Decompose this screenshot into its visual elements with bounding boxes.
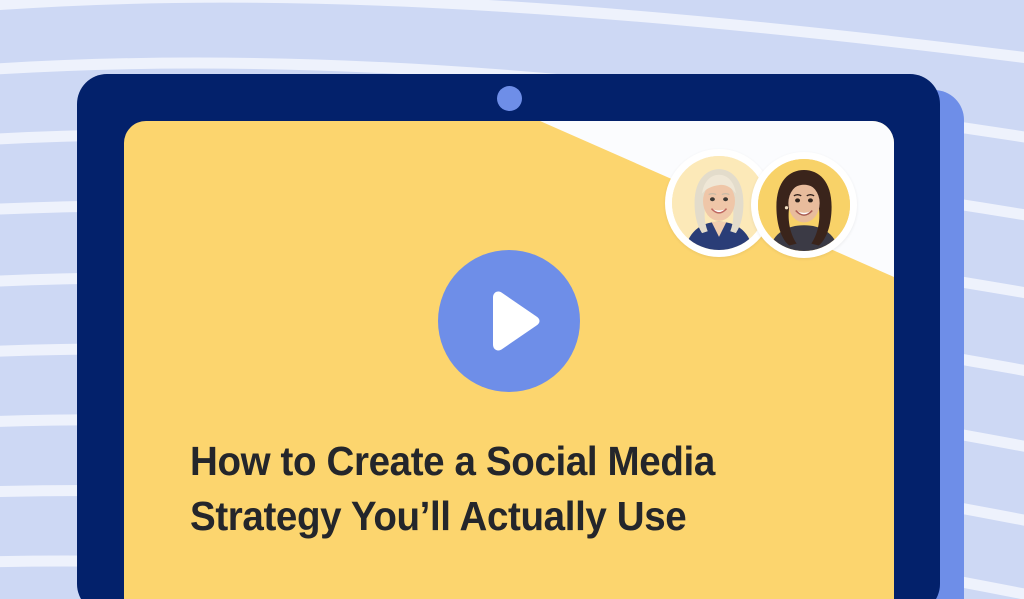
video-title-line-1: How to Create a Social Media bbox=[190, 434, 829, 489]
play-triangle-icon bbox=[486, 291, 542, 351]
video-thumbnail-stage: How to Create a Social Media Strategy Yo… bbox=[0, 0, 1024, 599]
avatar-image-2 bbox=[758, 159, 850, 251]
camera-dot-icon bbox=[497, 86, 522, 111]
video-title: How to Create a Social Media Strategy Yo… bbox=[190, 434, 829, 543]
play-button[interactable] bbox=[438, 250, 580, 392]
video-title-line-2: Strategy You’ll Actually Use bbox=[190, 489, 829, 544]
presenter-avatar-2 bbox=[751, 152, 857, 258]
tablet-screen: How to Create a Social Media Strategy Yo… bbox=[124, 121, 894, 599]
